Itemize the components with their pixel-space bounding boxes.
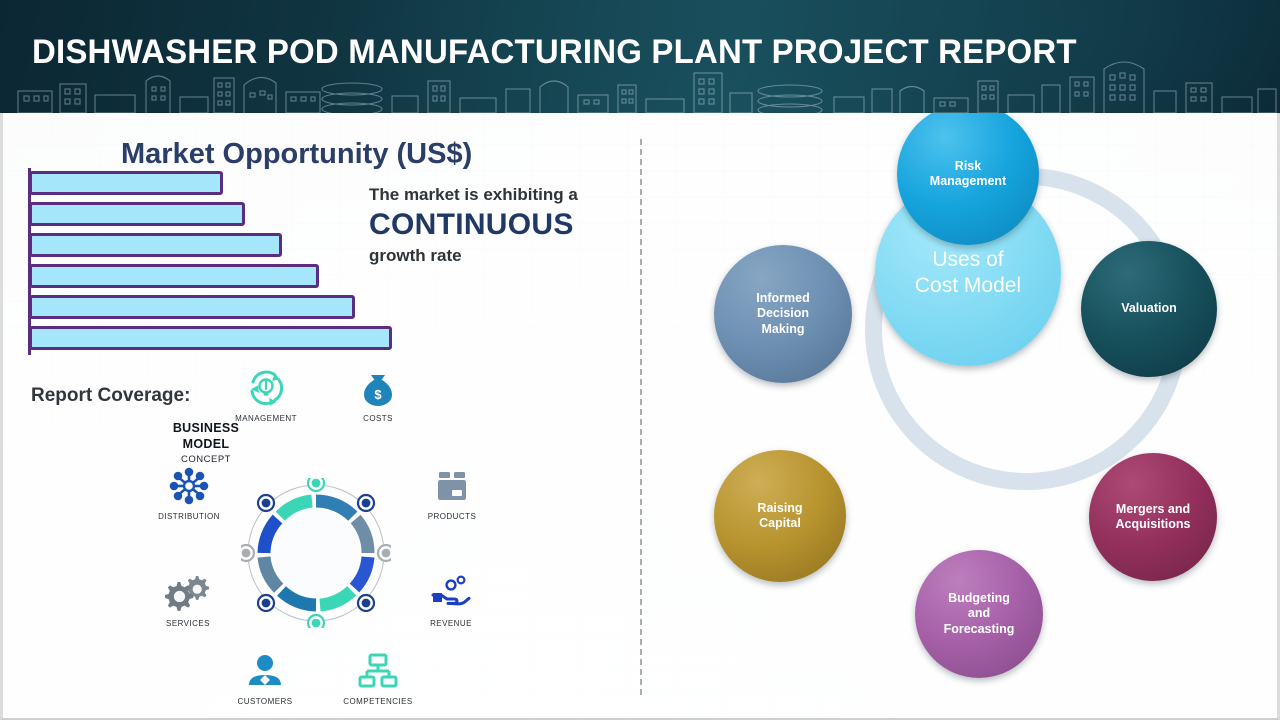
- center-line-2: Cost Model: [909, 273, 1027, 299]
- page-header: DISHWASHER POD MANUFACTURING PLANT PROJE…: [0, 0, 1280, 113]
- coverage-item-services: SERVICES: [133, 571, 243, 628]
- bar-4: [29, 264, 319, 288]
- money-bag-icon: $: [323, 366, 433, 410]
- business-model-ring: [241, 478, 391, 628]
- budget-line-2: and: [938, 606, 1021, 621]
- risk-line-2: Management: [924, 174, 1012, 189]
- coverage-item-competencies: COMPETENCIES: [323, 649, 433, 706]
- user-person-icon: [210, 649, 320, 693]
- raising-line-1: Raising: [751, 501, 808, 516]
- coverage-item-customers: CUSTOMERS: [210, 649, 320, 706]
- informed-line-3: Making: [750, 322, 815, 337]
- coverage-item-management: MANAGEMENT: [211, 366, 321, 423]
- coverage-item-distribution: DISTRIBUTION: [134, 464, 244, 521]
- node-valuation[interactable]: Valuation: [1081, 241, 1217, 377]
- callout-line-3: growth rate: [369, 246, 639, 266]
- gears-icon: [133, 571, 243, 615]
- coverage-label-costs: COSTS: [323, 414, 433, 423]
- callout-line-1: The market is exhibiting a: [369, 185, 639, 205]
- center-line-1: Uses of: [909, 247, 1027, 273]
- coverage-item-revenue: REVENUE: [396, 571, 506, 628]
- node-informed-decision-making[interactable]: Informed Decision Making: [714, 245, 852, 383]
- bar-5: [29, 295, 355, 319]
- bm-center-line-2: MODEL: [183, 437, 230, 452]
- panel-divider: [640, 139, 642, 695]
- informed-line-2: Decision: [750, 306, 815, 321]
- raising-line-2: Capital: [751, 516, 808, 531]
- bar-1: [29, 171, 223, 195]
- box-package-icon: [397, 464, 507, 508]
- svg-text:$: $: [374, 387, 382, 402]
- coverage-label-revenue: REVENUE: [396, 619, 506, 628]
- recycle-lightbulb-icon: [211, 366, 321, 410]
- node-budgeting-and-forecasting[interactable]: Budgeting and Forecasting: [915, 550, 1043, 678]
- node-mergers-and-acquisitions[interactable]: Mergers and Acquisitions: [1089, 453, 1217, 581]
- coverage-item-products: PRODUCTS: [397, 464, 507, 521]
- bar-3: [29, 233, 282, 257]
- bar-6: [29, 326, 392, 350]
- uses-of-cost-model-diagram: Uses of Cost Model Risk Management Valua…: [651, 113, 1280, 720]
- coverage-label-management: MANAGEMENT: [211, 414, 321, 423]
- coverage-item-costs: $ COSTS: [323, 366, 433, 423]
- node-raising-capital[interactable]: Raising Capital: [714, 450, 846, 582]
- mergers-line-1: Mergers and: [1109, 502, 1196, 517]
- coverage-label-competencies: COMPETENCIES: [323, 697, 433, 706]
- hand-coins-icon: [396, 571, 506, 615]
- bm-center-line-1: BUSINESS: [173, 421, 239, 436]
- page-title: DISHWASHER POD MANUFACTURING PLANT PROJE…: [32, 33, 1077, 72]
- risk-line-1: Risk: [924, 159, 1012, 174]
- org-chart-icon: [323, 649, 433, 693]
- coverage-label-distribution: DISTRIBUTION: [134, 512, 244, 521]
- growth-callout: The market is exhibiting a CONTINUOUS gr…: [369, 185, 639, 266]
- callout-emphasis: CONTINUOUS: [369, 205, 639, 246]
- market-opportunity-title: Market Opportunity (US$): [121, 138, 472, 171]
- business-model-diagram: BUSINESS MODEL CONCEPT MANAGEMENT: [131, 368, 501, 708]
- informed-line-1: Informed: [750, 291, 815, 306]
- coverage-label-customers: CUSTOMERS: [210, 697, 320, 706]
- coverage-label-products: PRODUCTS: [397, 512, 507, 521]
- coverage-label-services: SERVICES: [133, 619, 243, 628]
- budget-line-3: Forecasting: [938, 622, 1021, 637]
- bar-2: [29, 202, 245, 226]
- mergers-line-2: Acquisitions: [1109, 517, 1196, 532]
- budget-line-1: Budgeting: [938, 591, 1021, 606]
- network-nodes-icon: [134, 464, 244, 508]
- valuation-line-1: Valuation: [1115, 301, 1183, 316]
- slide-content: Market Opportunity (US$) The market is e…: [0, 113, 1280, 720]
